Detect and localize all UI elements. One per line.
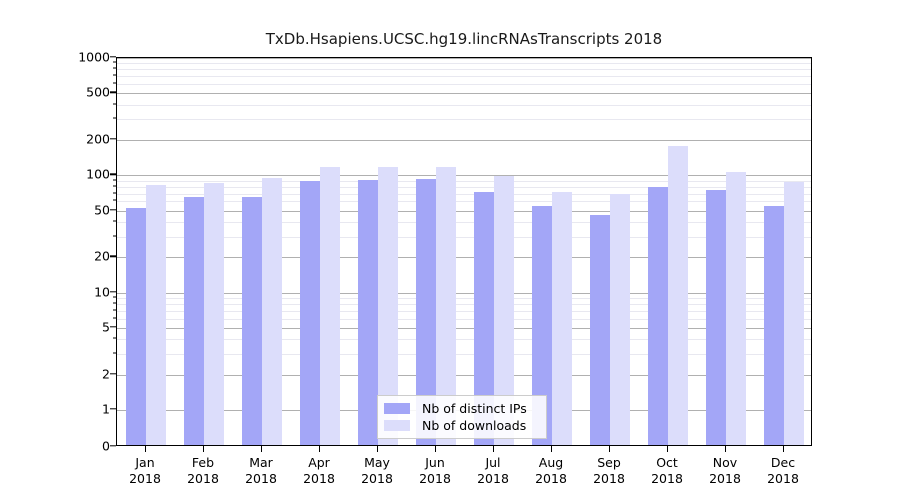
x-tick-label-sep: Sep2018 [593,455,625,487]
y-tick-mark-minor [113,179,116,180]
y-tick-label: 2 [102,366,110,381]
x-tick-year: 2018 [651,471,683,487]
bar-apr-downloads [320,167,340,445]
bar-may-ips [358,180,378,445]
y-tick-label: 1 [102,402,110,417]
plot-area [116,57,812,446]
chart-legend: Nb of distinct IPsNb of downloads [377,395,547,439]
bar-dec-ips [764,206,784,445]
x-tick-year: 2018 [477,471,509,487]
x-tick-year: 2018 [767,471,799,487]
bar-nov-ips [706,190,726,445]
bar-sep-ips [590,215,610,445]
y-tick-mark [110,92,116,93]
y-tick-mark-minor [113,103,116,104]
x-tick-mark [783,446,784,452]
bar-oct-downloads [668,146,688,445]
bar-mar-downloads [262,178,282,445]
bar-oct-ips [648,187,668,445]
x-tick-month: Nov [709,455,741,471]
x-tick-month: Dec [767,455,799,471]
y-tick-mark-minor [113,338,116,339]
bar-feb-downloads [204,183,224,445]
y-tick-mark [110,408,116,409]
bar-apr-ips [300,181,320,445]
bar-aug-downloads [552,192,572,445]
legend-item: Nb of distinct IPs [384,400,540,417]
y-tick-mark-minor [113,75,116,76]
x-tick-label-nov: Nov2018 [709,455,741,487]
x-tick-mark [203,446,204,452]
y-tick-mark-minor [113,83,116,84]
legend-swatch-ips [384,403,410,414]
x-tick-year: 2018 [361,471,393,487]
x-tick-month: Jan [129,455,161,471]
x-tick-mark [145,446,146,452]
x-tick-year: 2018 [419,471,451,487]
x-tick-label-may: May2018 [361,455,393,487]
x-tick-month: Apr [303,455,335,471]
x-tick-year: 2018 [129,471,161,487]
bar-jan-ips [126,208,146,445]
y-tick-label: 0 [102,439,110,454]
y-tick-mark-minor [113,62,116,63]
x-tick-label-dec: Dec2018 [767,455,799,487]
x-tick-mark [551,446,552,452]
y-tick-mark [110,373,116,374]
legend-label: Nb of downloads [422,418,526,433]
x-tick-year: 2018 [245,471,277,487]
y-tick-mark-minor [113,221,116,222]
x-tick-label-jun: Jun2018 [419,455,451,487]
bar-dec-downloads [784,182,804,445]
x-tick-label-mar: Mar2018 [245,455,277,487]
x-tick-label-aug: Aug2018 [535,455,567,487]
x-tick-month: Sep [593,455,625,471]
y-tick-label: 500 [86,85,110,100]
x-tick-label-apr: Apr2018 [303,455,335,487]
x-tick-year: 2018 [303,471,335,487]
legend-swatch-dls [384,420,410,431]
x-tick-year: 2018 [187,471,219,487]
chart-title: TxDb.Hsapiens.UCSC.hg19.lincRNAsTranscri… [116,30,812,48]
y-tick-mark [110,326,116,327]
x-tick-mark [725,446,726,452]
y-tick-mark-minor [113,118,116,119]
x-tick-year: 2018 [535,471,567,487]
x-tick-month: Jun [419,455,451,471]
y-tick-mark-minor [113,309,116,310]
y-tick-label: 50 [94,202,110,217]
y-tick-mark [110,256,116,257]
y-tick-mark [110,209,116,210]
y-tick-label: 100 [86,167,110,182]
y-tick-label: 20 [94,249,110,264]
bar-mar-ips [242,197,262,445]
y-tick-mark-minor [113,200,116,201]
x-tick-month: Oct [651,455,683,471]
x-tick-month: Mar [245,455,277,471]
y-tick-label: 10 [94,284,110,299]
y-tick-mark-minor [113,68,116,69]
x-tick-year: 2018 [593,471,625,487]
x-tick-label-feb: Feb2018 [187,455,219,487]
chart-figure: TxDb.Hsapiens.UCSC.hg19.lincRNAsTranscri… [0,0,900,500]
x-tick-mark [377,446,378,452]
x-tick-label-jul: Jul2018 [477,455,509,487]
y-tick-mark-minor [113,317,116,318]
y-tick-mark-minor [113,297,116,298]
legend-label: Nb of distinct IPs [422,401,527,416]
y-tick-mark-minor [113,185,116,186]
y-tick-label: 1000 [78,50,110,65]
bars-layer [117,58,811,445]
legend-item: Nb of downloads [384,417,540,434]
y-tick-mark [110,445,116,446]
y-tick-mark-minor [113,192,116,193]
bar-sep-downloads [610,194,630,445]
y-tick-mark-minor [113,303,116,304]
x-tick-year: 2018 [709,471,741,487]
y-tick-mark [110,56,116,57]
x-tick-mark [435,446,436,452]
x-tick-label-jan: Jan2018 [129,455,161,487]
x-tick-mark [493,446,494,452]
x-tick-month: Jul [477,455,509,471]
y-tick-label: 200 [86,132,110,147]
y-tick-mark [110,138,116,139]
x-tick-mark [319,446,320,452]
y-tick-mark [110,291,116,292]
bar-jan-downloads [146,185,166,445]
y-tick-mark-minor [113,235,116,236]
bar-nov-downloads [726,172,746,445]
x-tick-month: May [361,455,393,471]
y-tick-label: 5 [102,320,110,335]
x-tick-mark [667,446,668,452]
x-tick-month: Feb [187,455,219,471]
y-tick-mark [110,174,116,175]
x-tick-month: Aug [535,455,567,471]
x-tick-mark [261,446,262,452]
y-tick-mark-minor [113,353,116,354]
bar-feb-ips [184,197,204,445]
x-tick-label-oct: Oct2018 [651,455,683,487]
x-tick-mark [609,446,610,452]
